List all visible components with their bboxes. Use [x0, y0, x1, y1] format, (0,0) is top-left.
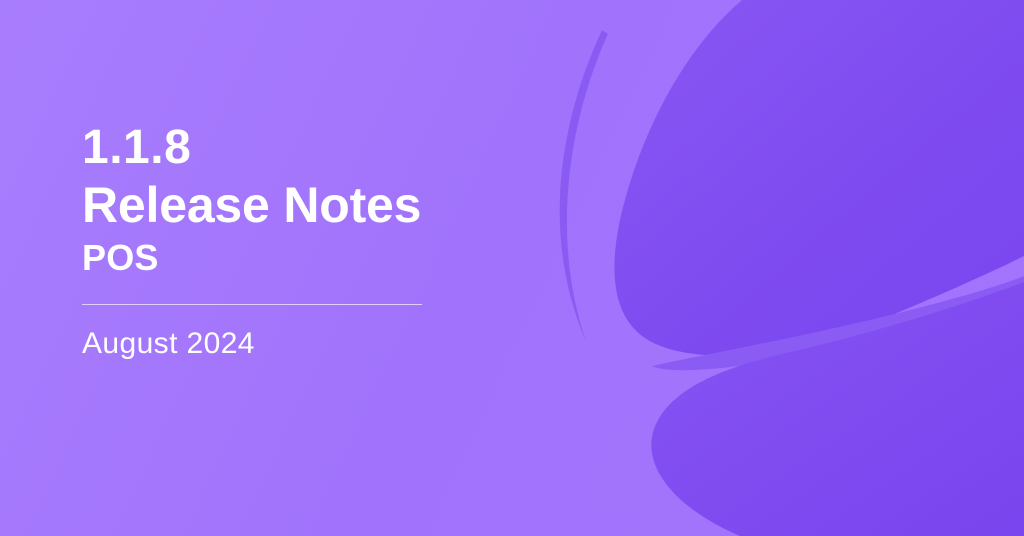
title-block: 1.1.8 Release Notes POS August 2024 [82, 124, 542, 360]
version-number: 1.1.8 [82, 124, 542, 172]
antenna-crescent-shape [560, 30, 608, 341]
divider [82, 304, 422, 305]
page-title: Release Notes [82, 178, 542, 232]
release-date: August 2024 [82, 327, 542, 360]
product-name: POS [82, 238, 542, 278]
release-notes-banner: 1.1.8 Release Notes POS August 2024 [0, 0, 1024, 536]
